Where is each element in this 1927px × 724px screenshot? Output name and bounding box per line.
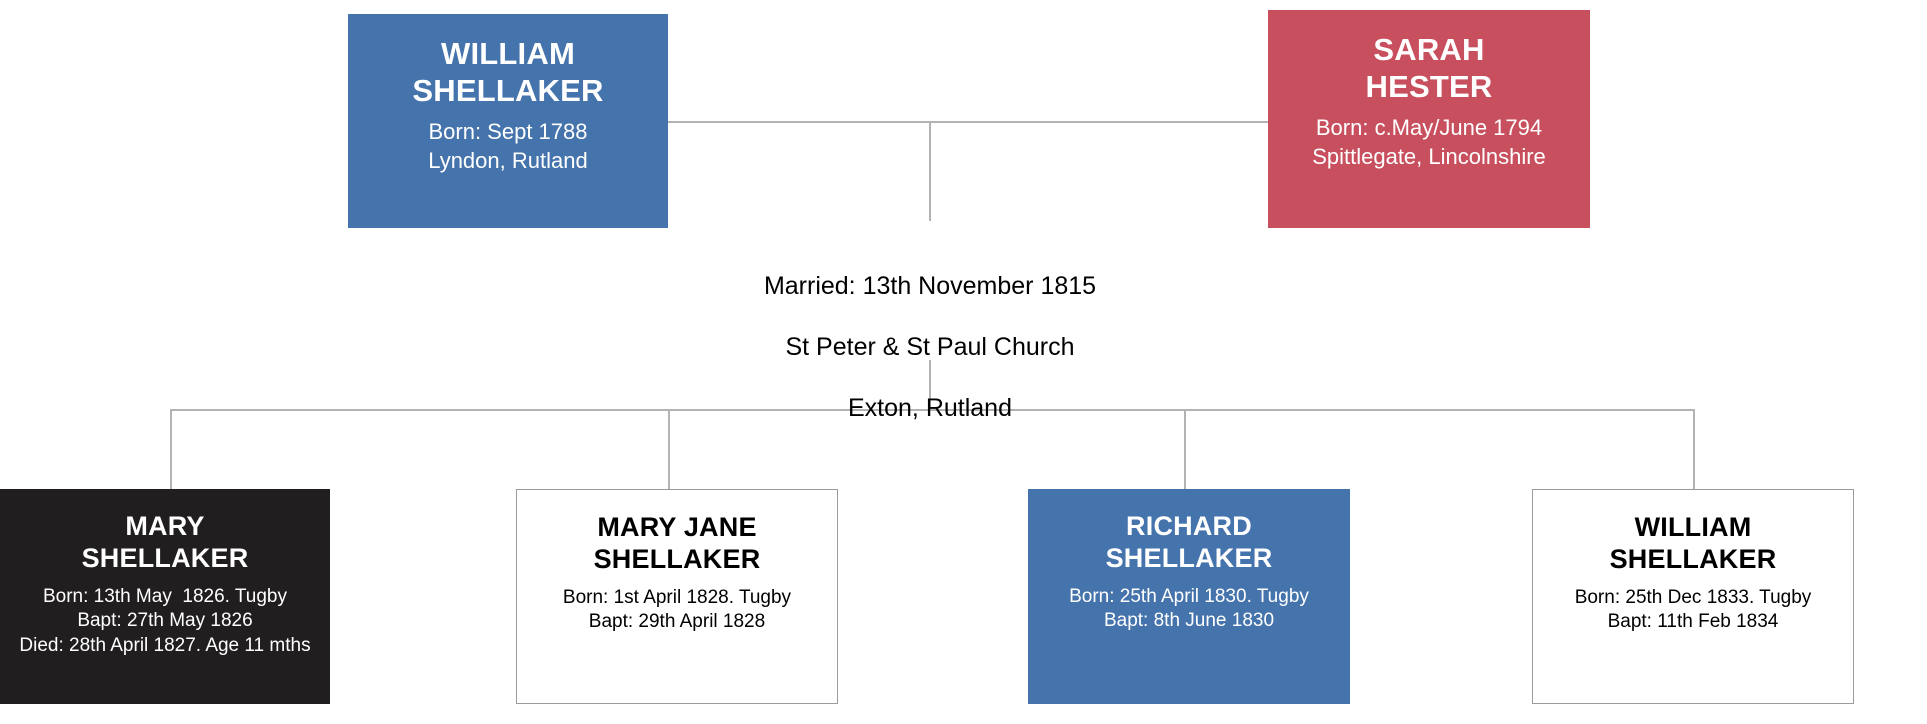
person-details: Born: Sept 1788 Lyndon, Rutland: [428, 118, 587, 175]
parents-connector-horizontal: [668, 121, 1270, 123]
person-name: RICHARD SHELLAKER: [1106, 511, 1273, 575]
person-detail-line: Born: c.May/June 1794: [1312, 114, 1546, 143]
person-given-name: RICHARD: [1126, 511, 1252, 541]
person-name: MARY SHELLAKER: [82, 511, 249, 575]
person-detail-line: Born: 1st April 1828. Tugby: [563, 586, 791, 611]
person-detail-line: Bapt: 27th May 1826: [19, 609, 310, 634]
person-surname: HESTER: [1366, 69, 1493, 104]
marriage-line-place: Exton, Rutland: [630, 393, 1230, 424]
person-surname: SHELLAKER: [412, 73, 603, 108]
person-name: MARY JANE SHELLAKER: [594, 512, 761, 576]
person-details: Born: 25th Dec 1833. Tugby Bapt: 11th Fe…: [1575, 586, 1812, 635]
person-details: Born: c.May/June 1794 Spittlegate, Linco…: [1312, 114, 1546, 171]
person-given-name: WILLIAM: [1635, 512, 1752, 542]
person-details: Born: 1st April 1828. Tugby Bapt: 29th A…: [563, 586, 791, 635]
person-box-richard-shellaker[interactable]: RICHARD SHELLAKER Born: 25th April 1830.…: [1028, 489, 1350, 704]
marriage-note: Married: 13th November 1815 St Peter & S…: [630, 240, 1230, 454]
person-box-mary-shellaker[interactable]: MARY SHELLAKER Born: 13th May 1826. Tugb…: [0, 489, 330, 704]
marriage-connector-vertical-upper: [929, 121, 931, 221]
person-given-name: MARY: [125, 511, 204, 541]
marriage-line-date: Married: 13th November 1815: [630, 271, 1230, 302]
child-connector-mary: [170, 409, 172, 489]
person-given-name: MARY JANE: [597, 512, 756, 542]
person-surname: SHELLAKER: [82, 543, 249, 573]
person-detail-line: Spittlegate, Lincolnshire: [1312, 143, 1546, 172]
person-detail-line: Born: Sept 1788: [428, 118, 587, 147]
person-surname: SHELLAKER: [1106, 543, 1273, 573]
person-given-name: SARAH: [1373, 32, 1484, 67]
person-details: Born: 25th April 1830. Tugby Bapt: 8th J…: [1069, 585, 1309, 634]
person-detail-line: Born: 25th April 1830. Tugby: [1069, 585, 1309, 610]
marriage-line-church: St Peter & St Paul Church: [630, 332, 1230, 363]
family-tree-diagram: WILLIAM SHELLAKER Born: Sept 1788 Lyndon…: [0, 0, 1927, 724]
person-box-william-shellaker-child[interactable]: WILLIAM SHELLAKER Born: 25th Dec 1833. T…: [1532, 489, 1854, 704]
person-box-mary-jane-shellaker[interactable]: MARY JANE SHELLAKER Born: 1st April 1828…: [516, 489, 838, 704]
person-detail-line: Bapt: 11th Feb 1834: [1575, 610, 1812, 635]
person-name: WILLIAM SHELLAKER: [1610, 512, 1777, 576]
child-connector-william: [1693, 409, 1695, 489]
person-detail-line: Died: 28th April 1827. Age 11 mths: [19, 634, 310, 659]
person-detail-line: Lyndon, Rutland: [428, 147, 587, 176]
person-given-name: WILLIAM: [441, 36, 575, 71]
person-box-sarah-hester-mother[interactable]: SARAH HESTER Born: c.May/June 1794 Spitt…: [1268, 10, 1590, 228]
person-box-william-shellaker-father[interactable]: WILLIAM SHELLAKER Born: Sept 1788 Lyndon…: [348, 14, 668, 228]
person-name: WILLIAM SHELLAKER: [412, 36, 603, 109]
person-detail-line: Bapt: 8th June 1830: [1069, 609, 1309, 634]
person-surname: SHELLAKER: [594, 544, 761, 574]
person-name: SARAH HESTER: [1366, 32, 1493, 105]
person-detail-line: Bapt: 29th April 1828: [563, 610, 791, 635]
person-details: Born: 13th May 1826. Tugby Bapt: 27th Ma…: [19, 585, 310, 659]
person-detail-line: Born: 13th May 1826. Tugby: [19, 585, 310, 610]
person-surname: SHELLAKER: [1610, 544, 1777, 574]
person-detail-line: Born: 25th Dec 1833. Tugby: [1575, 586, 1812, 611]
